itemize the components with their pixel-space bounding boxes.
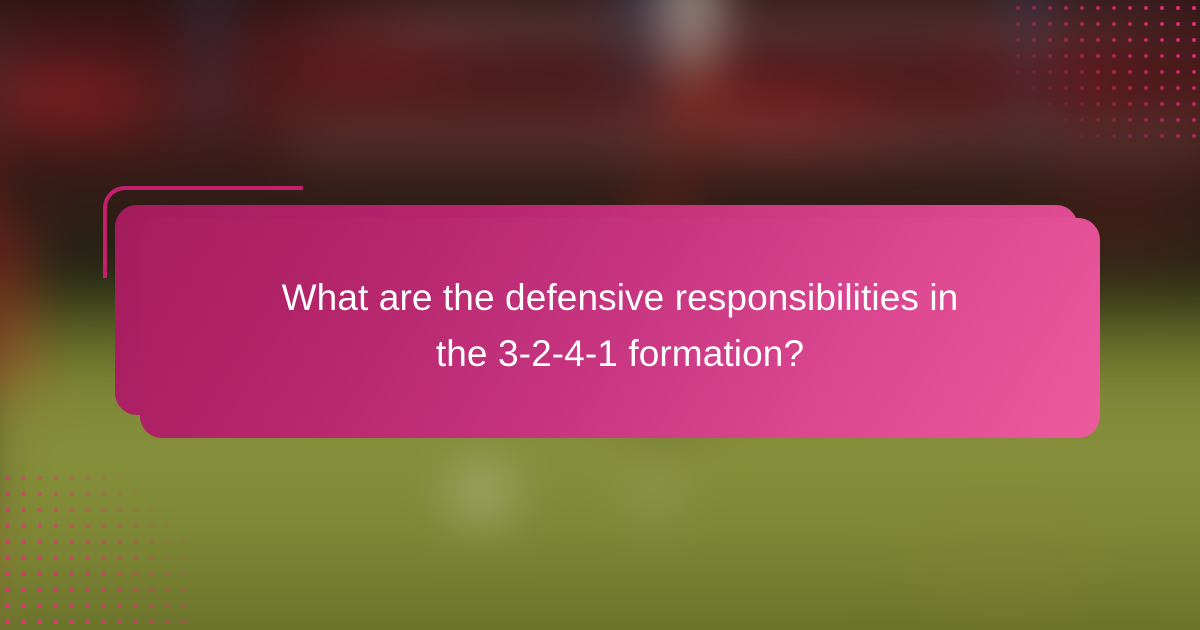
photo-football	[460, 474, 507, 516]
question-card-group: What are the defensive responsibilities …	[103, 186, 1103, 440]
photo-player-white	[673, 0, 709, 159]
share-card-canvas: What are the defensive responsibilities …	[0, 0, 1200, 630]
photo-goal-post-far	[1125, 0, 1136, 21]
photo-goal-post-centre	[628, 0, 644, 108]
question-card: What are the defensive responsibilities …	[140, 218, 1100, 438]
photo-goal-post-right	[1023, 0, 1038, 140]
photo-player-red-arm	[0, 220, 26, 395]
photo-football-2	[635, 478, 675, 514]
photo-goal-post-left	[203, 0, 217, 148]
photo-hoarding	[292, 132, 1200, 155]
photo-crowd-band	[0, 0, 1200, 204]
question-title: What are the defensive responsibilities …	[230, 270, 1010, 386]
photo-crossbar	[264, 17, 1200, 27]
